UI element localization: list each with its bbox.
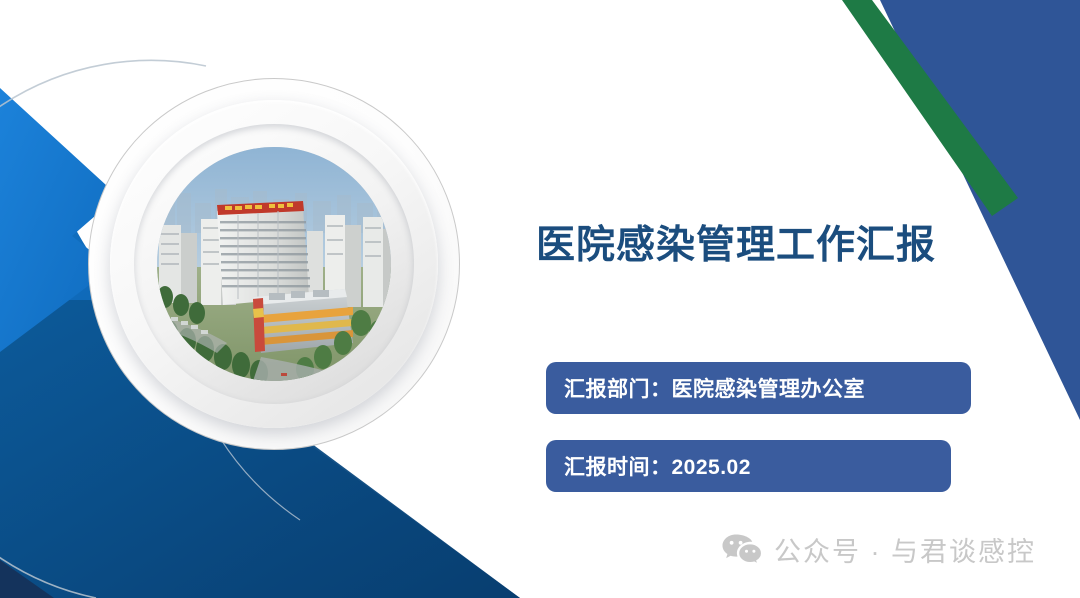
hospital-photo-medallion [88,78,460,450]
wechat-watermark: 公众号 · 与君谈感控 [722,530,1036,569]
page-title: 医院感染管理工作汇报 [536,224,936,269]
report-date-badge: 汇报时间：2025.02 [546,440,951,492]
content-column: 医院感染管理工作汇报 汇报部门：医院感染管理办公室 汇报时间：2025.02 [530,0,1000,598]
wechat-icon [722,533,762,566]
title-slide: 医院感染管理工作汇报 汇报部门：医院感染管理办公室 汇报时间：2025.02 公… [0,0,1080,598]
report-department-badge: 汇报部门：医院感染管理办公室 [546,362,971,414]
hospital-aerial-photo [157,147,391,381]
watermark-text: 公众号 · 与君谈感控 [774,530,1036,569]
